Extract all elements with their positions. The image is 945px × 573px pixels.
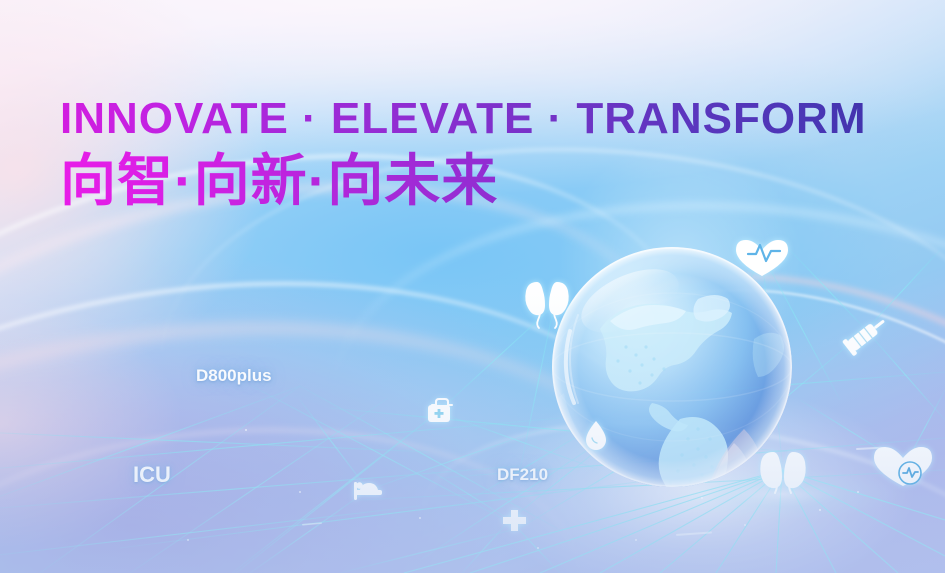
network-mesh xyxy=(0,0,945,573)
background-light-burst xyxy=(0,0,945,573)
background-base-gradient xyxy=(0,0,945,573)
sparkle-dots xyxy=(187,429,885,549)
glass-globe xyxy=(548,243,796,491)
radiating-fan xyxy=(404,470,945,573)
globe-continents xyxy=(548,293,792,491)
background-sky-glow xyxy=(0,0,945,573)
background-rose-glow xyxy=(0,0,945,573)
light-ribbon-4 xyxy=(0,258,734,573)
label-df210: DF210 xyxy=(497,465,548,485)
light-ribbon-8 xyxy=(518,210,945,573)
mesh-lines-diagonal xyxy=(0,250,945,573)
syringe-icon xyxy=(842,313,890,356)
globe-rim-light xyxy=(566,331,574,403)
light-ribbon-6 xyxy=(309,162,945,573)
label-icu: ICU xyxy=(133,462,171,488)
medical-icon-layer xyxy=(0,0,945,573)
light-ribbon-9 xyxy=(0,406,591,573)
background-top-light xyxy=(0,0,945,573)
water-drop-icon xyxy=(586,421,606,450)
fan-glow xyxy=(662,468,902,520)
heart-pulse-icon xyxy=(736,240,788,276)
medical-cross-icon xyxy=(503,510,526,531)
light-ribbon-5 xyxy=(145,120,945,573)
headline-english: INNOVATE · ELEVATE · TRANSFORM xyxy=(60,96,867,143)
sparkle-streaks xyxy=(302,447,882,536)
medical-briefcase-icon xyxy=(428,399,452,422)
globe-specular-highlight xyxy=(572,256,688,346)
hospital-bed-icon xyxy=(354,482,382,500)
hero-banner: INNOVATE · ELEVATE · TRANSFORM 向智·向新·向未来… xyxy=(0,0,945,573)
globe-dot-texture xyxy=(616,345,713,484)
headline-chinese: 向智·向新·向未来 xyxy=(60,151,867,211)
kidneys-icon xyxy=(525,282,568,328)
light-ribbon-2 xyxy=(0,108,720,573)
headline-block: INNOVATE · ELEVATE · TRANSFORM 向智·向新·向未来 xyxy=(60,96,867,211)
kidneys-icon xyxy=(760,452,805,493)
light-ribbon-10 xyxy=(404,383,945,573)
light-ribbon-3 xyxy=(0,214,726,573)
light-ribbon-1 xyxy=(0,69,748,573)
heart-pulse-badge-icon xyxy=(874,447,932,486)
label-d800plus: D800plus xyxy=(196,366,272,386)
background-bottom-vignette xyxy=(0,0,945,573)
mesh-lines-horizontal xyxy=(0,372,945,556)
background-lavender-glow xyxy=(0,0,945,573)
light-ribbon-7 xyxy=(495,193,945,573)
